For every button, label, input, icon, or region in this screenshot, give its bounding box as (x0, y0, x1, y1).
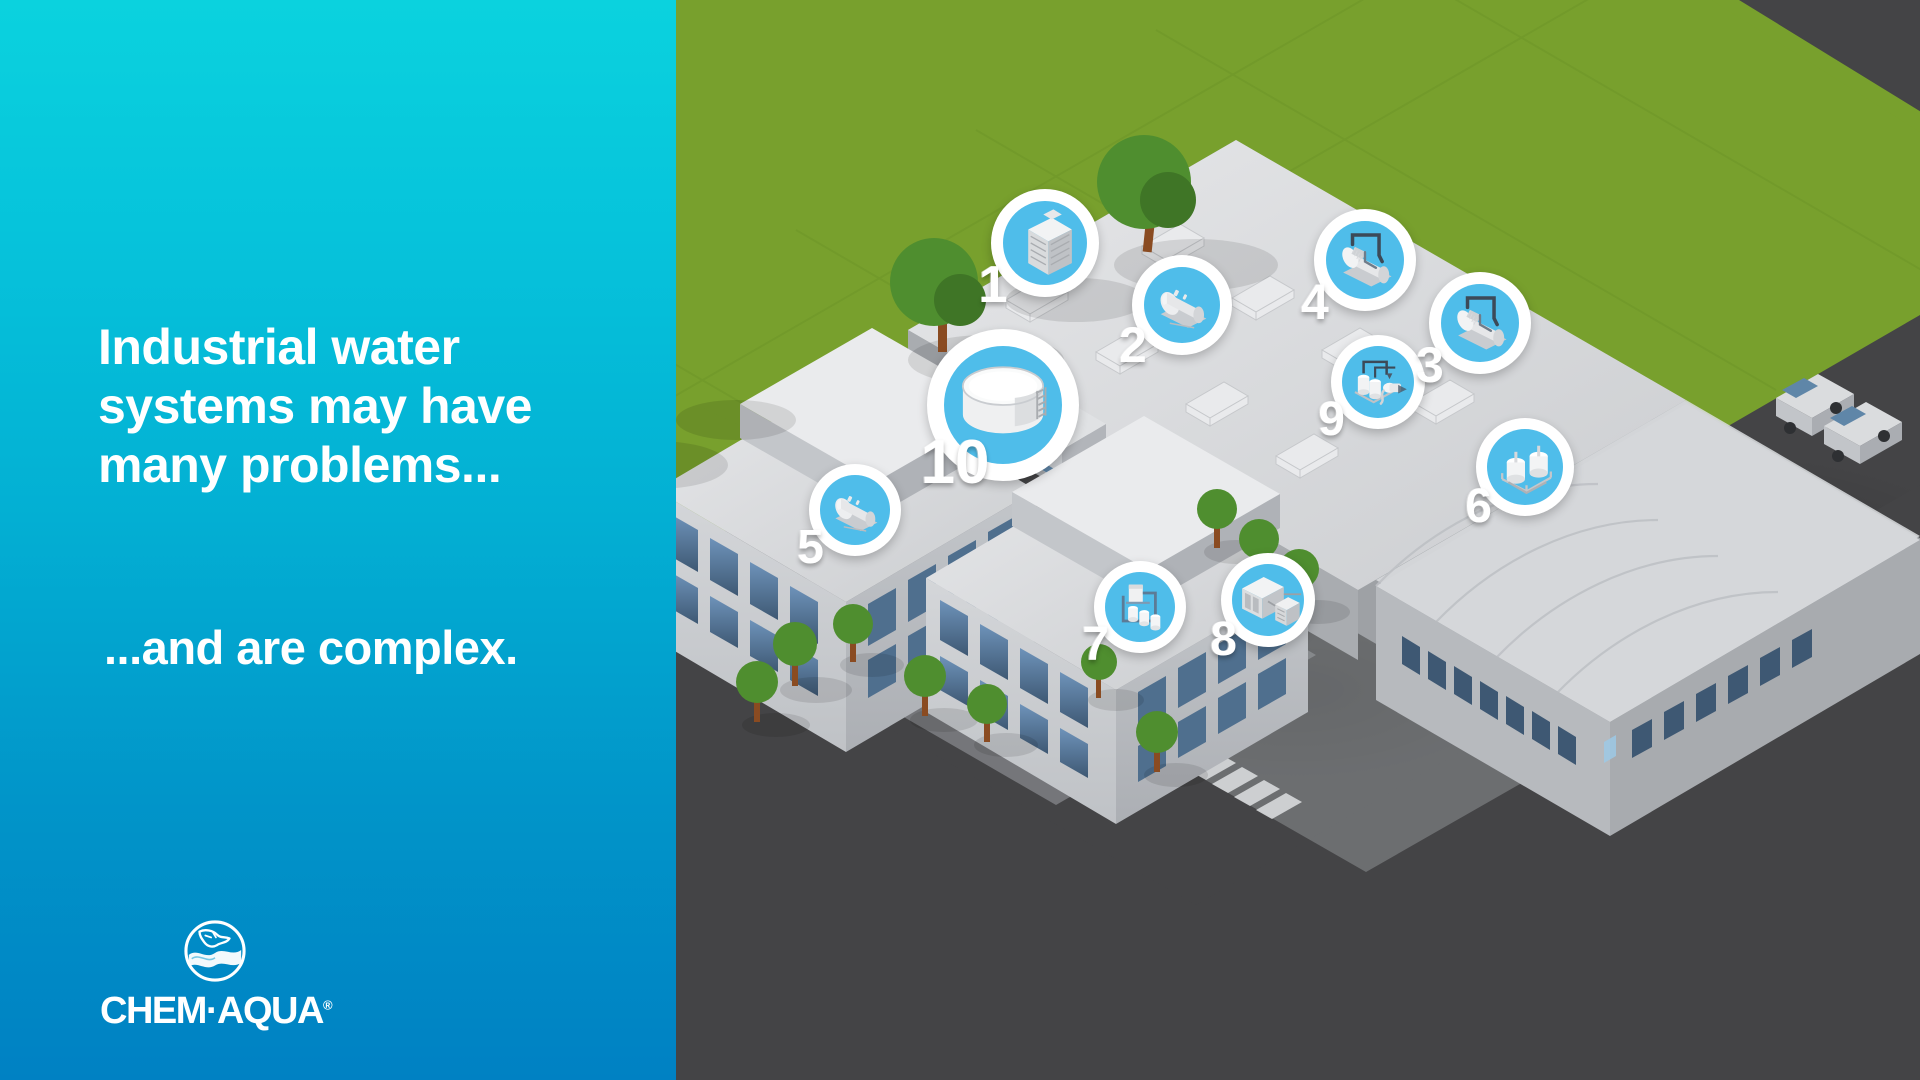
chemical-feed-icon (1342, 346, 1414, 418)
map-marker-10[interactable]: 10 (927, 329, 1079, 481)
marker-disc (1326, 221, 1404, 299)
marker-disc (1232, 564, 1304, 636)
marker-number: 10 (921, 432, 990, 494)
softener-tanks-icon (1105, 572, 1175, 642)
map-marker-8[interactable]: 8 (1221, 553, 1315, 647)
marker-disc (1105, 572, 1175, 642)
map-marker-3[interactable]: 3 (1429, 272, 1531, 374)
marker-number: 6 (1465, 483, 1492, 531)
brand-wordmark: CHEM·AQUA® (100, 990, 330, 1033)
slide-canvas: Industrial water systems may have many p… (0, 0, 1920, 1080)
air-handler-icon (1232, 564, 1304, 636)
headline-line-3: many problems... (98, 436, 658, 495)
registered-mark: ® (323, 997, 333, 1012)
boiler-icon (1144, 267, 1220, 343)
isometric-campus-illustration: 1 2 3 (676, 0, 1920, 1080)
marker-disc (1441, 284, 1519, 362)
headline-line-1: Industrial water (98, 318, 658, 377)
marker-number: 7 (1082, 621, 1109, 669)
subtitle-line: ...and are complex. (104, 620, 664, 675)
map-marker-9[interactable]: 9 (1331, 335, 1425, 429)
boiler-pipe-icon (1441, 284, 1519, 362)
marker-number: 1 (979, 259, 1008, 311)
map-marker-5[interactable]: 5 (809, 464, 901, 556)
marker-number: 5 (797, 524, 824, 572)
marker-number: 4 (1301, 277, 1329, 327)
marker-number: 2 (1119, 320, 1147, 370)
page-title: Industrial water systems may have many p… (98, 318, 658, 495)
map-marker-1[interactable]: 1 (991, 189, 1099, 297)
marker-disc (820, 475, 890, 545)
filter-vessels-icon (1487, 429, 1563, 505)
map-marker-6[interactable]: 6 (1476, 418, 1574, 516)
marker-number: 9 (1318, 396, 1345, 444)
marker-disc (1144, 267, 1220, 343)
marker-disc (1342, 346, 1414, 418)
boiler-pipe-icon (1326, 221, 1404, 299)
wordmark-text: CHEM·AQUA (100, 990, 323, 1032)
left-text-panel: Industrial water systems may have many p… (0, 0, 676, 1080)
wave-globe-icon (184, 920, 246, 982)
marker-disc (1003, 201, 1087, 285)
map-marker-2[interactable]: 2 (1132, 255, 1232, 355)
cooling-tower-icon (1003, 201, 1087, 285)
boiler-icon (820, 475, 890, 545)
brand-logo: CHEM·AQUA® (100, 920, 330, 1033)
marker-disc (1487, 429, 1563, 505)
map-marker-7[interactable]: 7 (1094, 561, 1186, 653)
headline-line-2: systems may have (98, 377, 658, 436)
map-marker-4[interactable]: 4 (1314, 209, 1416, 311)
marker-number: 8 (1210, 616, 1237, 664)
page-subtitle: ...and are complex. (104, 620, 664, 675)
marker-number: 3 (1416, 340, 1444, 390)
